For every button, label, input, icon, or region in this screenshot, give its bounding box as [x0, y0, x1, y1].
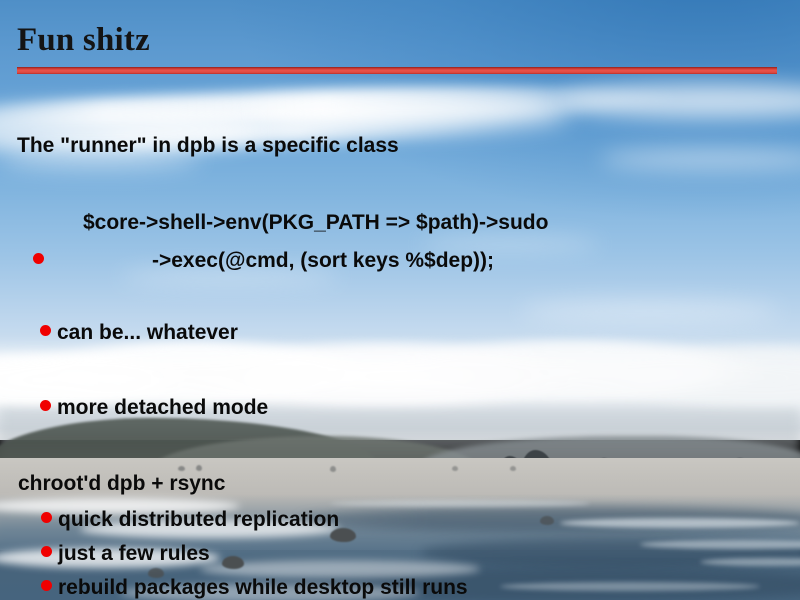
content-line-quick-distributed-replication: quick distributed replication — [58, 509, 339, 530]
content-line-just-a-few-rules: just a few rules — [58, 543, 210, 564]
content-line-chrootd-dpb-rsync: chroot'd dpb + rsync — [18, 473, 225, 494]
bullet-icon-code-second — [33, 253, 44, 264]
bullet-icon-few-rules — [41, 546, 52, 557]
bullet-icon-quick-replication — [41, 512, 52, 523]
slide-content: Fun shitz The "runner" in dpb is a speci… — [0, 0, 800, 600]
bullet-icon-rebuild-packages — [41, 580, 52, 591]
bullet-icon-can-be — [40, 325, 51, 336]
content-line-can-be-whatever: can be... whatever — [57, 322, 238, 343]
slide-title: Fun shitz — [17, 22, 150, 59]
presentation-slide: Fun shitz The "runner" in dpb is a speci… — [0, 0, 800, 600]
content-line-code-first: $core->shell->env(PKG_PATH => $path)->su… — [83, 212, 548, 233]
title-underline-rule — [17, 67, 777, 74]
content-line-more-detached-mode: more detached mode — [57, 397, 268, 418]
content-line-code-second: ->exec(@cmd, (sort keys %$dep)); — [152, 250, 494, 271]
content-line-rebuild-packages: rebuild packages while desktop still run… — [58, 577, 468, 598]
bullet-icon-detached-mode — [40, 400, 51, 411]
content-line-runner-class: The "runner" in dpb is a specific class — [17, 135, 399, 156]
